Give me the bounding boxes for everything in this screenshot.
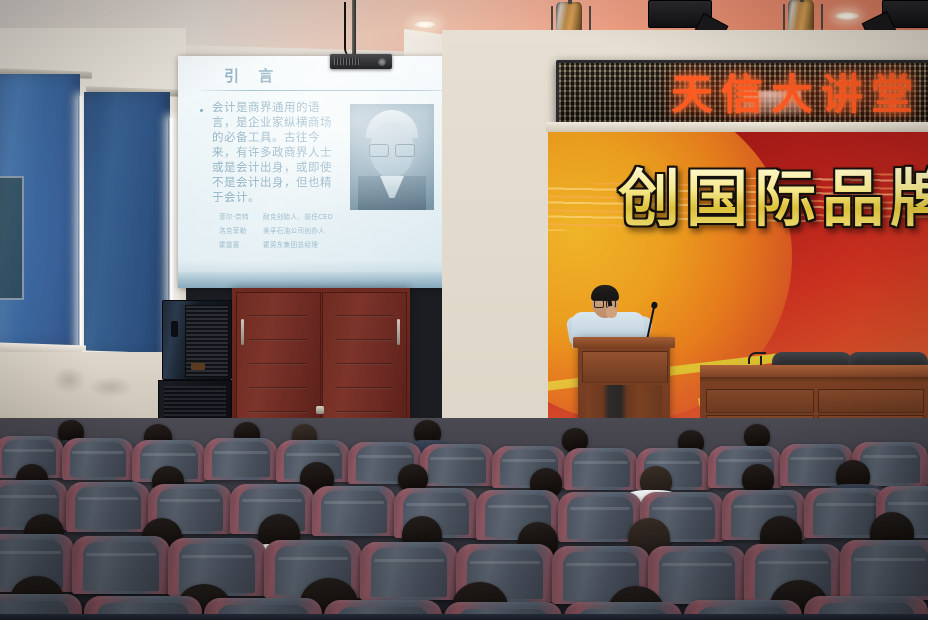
door-groove [249, 411, 307, 413]
door-handle[interactable] [397, 319, 400, 345]
projector-vent [334, 58, 360, 65]
seat[interactable] [564, 448, 638, 490]
seat-seam [430, 457, 483, 460]
light-stem [800, 0, 804, 2]
table-panel [706, 389, 814, 413]
glasses-lens [369, 144, 389, 157]
door-groove [335, 387, 393, 389]
portrait-glasses-icon [369, 144, 415, 155]
podium-top [573, 337, 675, 348]
table-lip [700, 377, 928, 383]
seat-seam [816, 503, 876, 506]
screen-bottom-shadow [178, 272, 480, 288]
seat-cushion [659, 552, 735, 601]
seat-seam [566, 563, 637, 566]
slide-bullet-text: 会计是商界通用的语言，是企业家纵横商场的必备工具。古往今来，有许多政商界人士或是… [212, 100, 334, 205]
slide-title: 引 言 [224, 65, 280, 86]
wall-smudge [88, 376, 134, 398]
seat-cushion [212, 442, 270, 477]
seat-seam [888, 502, 928, 505]
led-banner-text: 天信大讲堂 [671, 65, 921, 125]
seat-seam [646, 461, 699, 464]
door-groove [249, 363, 307, 365]
seat-seam [278, 557, 349, 560]
speaker-port [171, 321, 178, 337]
seat-seam [324, 501, 384, 504]
seat-seam [758, 561, 829, 564]
seat[interactable] [420, 444, 494, 486]
seat-cushion [371, 548, 447, 597]
ceiling-projector [330, 54, 392, 69]
slide-bullet-marker [200, 109, 203, 112]
seat-seam [160, 499, 220, 502]
wall-smudge [52, 366, 86, 394]
bottom-edge [0, 614, 928, 620]
seat-seam [470, 561, 541, 564]
seat-cushion [851, 546, 928, 596]
seat[interactable] [648, 546, 746, 604]
recessed-downlight [835, 12, 859, 20]
table-panel [818, 389, 924, 413]
seat-seam [406, 503, 466, 506]
led-sign-bracket [546, 122, 928, 132]
seat-seam [0, 495, 57, 498]
credit-name: 霍震寰 [218, 239, 260, 251]
projector-lens-icon [378, 58, 386, 66]
seat-seam [488, 505, 548, 508]
recessed-downlight [412, 20, 438, 29]
seat[interactable] [840, 540, 928, 600]
seat-cushion [179, 544, 255, 593]
loudspeaker-cabinet [162, 300, 232, 380]
credit-row: 霍震寰 霍英东集团总经理 [218, 239, 344, 251]
credit-role: 霍英东集团总经理 [262, 239, 344, 251]
seat-seam [574, 461, 627, 464]
door-groove [335, 339, 393, 341]
barn-door-stage-light [882, 0, 928, 28]
seat-seam [790, 457, 843, 460]
seat-seam [358, 455, 411, 458]
seat-seam [286, 453, 339, 456]
door-lock-icon [316, 406, 324, 414]
table-top [700, 365, 928, 377]
seat-seam [72, 451, 124, 454]
projection-screen: 引 言 会计是商界通用的语言，是企业家纵横商场的必备工具。古往今来，有许多政商界… [178, 56, 480, 288]
seat-seam [734, 505, 794, 508]
seat[interactable] [66, 482, 150, 532]
seat-seam [652, 507, 712, 510]
seat-seam [854, 558, 926, 561]
seat-cushion [428, 448, 486, 483]
seat[interactable] [360, 542, 458, 600]
seat-cushion [567, 497, 633, 539]
seat-seam [4, 449, 54, 452]
speaker-hand [606, 306, 617, 318]
seat-seam [78, 497, 138, 500]
seat-seam [86, 553, 157, 556]
credit-role: 耐克创始人、前任CEO [262, 211, 344, 223]
projector-cable [344, 2, 358, 58]
credit-row: 洛克菲勒 美孚石油公司创办人 [218, 225, 344, 237]
seat-seam [142, 453, 195, 456]
seat[interactable] [62, 438, 134, 480]
barn-door-stage-light [648, 0, 712, 28]
chalkboard [0, 176, 24, 300]
door-groove [335, 363, 393, 365]
credit-role: 美孚石油公司创办人 [262, 225, 344, 237]
credit-row: 菲尔·奈特 耐克创始人、前任CEO [218, 211, 344, 223]
glasses-lens [395, 144, 415, 157]
seat-cushion [83, 542, 159, 591]
seat-seam [182, 555, 253, 558]
seat-seam [0, 551, 61, 554]
seat-seam [718, 459, 771, 462]
slide-divider [198, 90, 460, 91]
light-stem [568, 0, 572, 4]
door-groove [335, 411, 393, 413]
seat-cushion [321, 491, 387, 533]
seat[interactable] [204, 438, 278, 480]
glasses-lens [594, 300, 604, 308]
door-groove [249, 387, 307, 389]
audience-head [744, 424, 770, 448]
audience-area [0, 418, 928, 620]
speaker-hair [591, 285, 619, 301]
seat-seam [214, 451, 267, 454]
speaker-badge [191, 363, 205, 370]
seat-cushion [572, 452, 630, 487]
slide-credits: 菲尔·奈特 耐克创始人、前任CEO 洛克菲勒 美孚石油公司创办人 霍震寰 霍英东… [216, 209, 346, 253]
door-handle[interactable] [241, 319, 244, 345]
seat-cushion [70, 442, 126, 477]
door-groove [249, 339, 307, 341]
seat-cushion [813, 493, 879, 535]
seat-seam [502, 459, 555, 462]
seat-seam [570, 507, 630, 510]
door-groove [335, 315, 393, 317]
door-groove [249, 315, 307, 317]
seat[interactable] [72, 536, 170, 594]
credit-name: 菲尔·奈特 [218, 211, 260, 223]
projected-slide: 引 言 会计是商界通用的语言，是企业家纵横商场的必备工具。古往今来，有许多政商界… [178, 56, 480, 288]
seat-seam [863, 455, 918, 458]
slide-portrait-photo [350, 104, 434, 210]
seat-cushion [75, 487, 141, 529]
backdrop-title-text: 创国际品牌 [618, 160, 928, 238]
seat-seam [662, 563, 733, 566]
lecture-hall-photo: 引 言 会计是商界通用的语言，是企业家纵横商场的必备工具。古往今来，有许多政商界… [0, 0, 928, 620]
seat-seam [242, 499, 302, 502]
seat[interactable] [312, 486, 396, 536]
credit-name: 洛克菲勒 [218, 225, 260, 237]
led-banner-sign: 天信大讲堂 [556, 60, 928, 130]
podium-front-panel [582, 351, 668, 383]
seat-seam [374, 559, 445, 562]
